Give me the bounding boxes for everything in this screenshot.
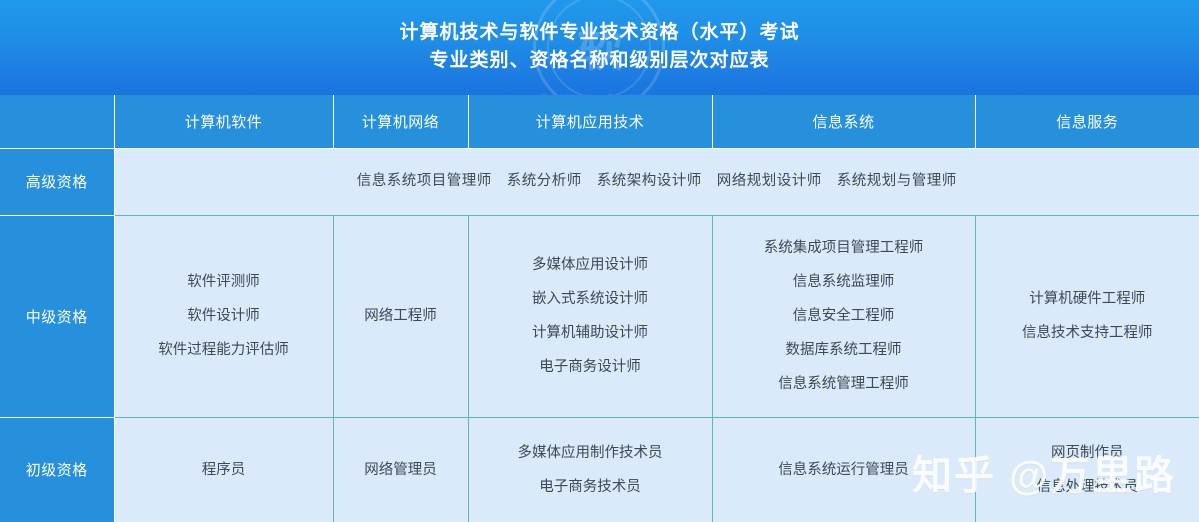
banner-title-group: 计算机技术与软件专业技术资格（水平）考试 专业类别、资格名称和级别层次对应表: [0, 0, 1199, 95]
cell-junior-computer-application: 多媒体应用制作技术员电子商务技术员: [468, 417, 712, 522]
qualification-item: 程序员: [115, 453, 333, 487]
cell-intermediate-computer-software: 软件评测师软件设计师软件过程能力评估师: [114, 215, 333, 417]
qualification-item: 信息技术支持工程师: [976, 316, 1199, 350]
column-header-information-service: 信息服务: [975, 95, 1199, 148]
table-row-intermediate: 中级资格 软件评测师软件设计师软件过程能力评估师 网络工程师 多媒体应用设计师嵌…: [0, 215, 1199, 417]
column-header-computer-network: 计算机网络: [333, 95, 468, 148]
cell-senior-merged: 信息系统项目管理师 系统分析师 系统架构设计师 网络规划设计师 系统规划与管理师: [114, 148, 1199, 215]
qualification-item: 信息系统运行管理员: [713, 453, 975, 487]
qualification-item: 嵌入式系统设计师: [469, 282, 712, 316]
qualification-item: 计算机辅助设计师: [469, 316, 712, 350]
page-subtitle: 专业类别、资格名称和级别层次对应表: [429, 51, 769, 72]
row-header-intermediate: 中级资格: [0, 215, 114, 417]
column-header-information-system: 信息系统: [712, 95, 975, 148]
qualification-item: 电子商务技术员: [469, 470, 712, 504]
row-header-senior: 高级资格: [0, 148, 114, 215]
qualification-item: 软件过程能力评估师: [115, 333, 333, 367]
row-header-junior: 初级资格: [0, 417, 114, 522]
qualification-item: 网络管理员: [334, 453, 468, 487]
cell-intermediate-computer-application: 多媒体应用设计师嵌入式系统设计师计算机辅助设计师电子商务设计师: [468, 215, 712, 417]
qualification-item: 软件设计师: [115, 299, 333, 333]
cell-junior-information-service: 网页制作员信息处理技术员: [975, 417, 1199, 522]
qualification-item: 网页制作员: [976, 436, 1199, 470]
qualification-item: 多媒体应用制作技术员: [469, 436, 712, 470]
page-root: 软 Qualification Certificate 计算机技术与软件专业技术…: [0, 0, 1199, 522]
qualification-item: 多媒体应用设计师: [469, 248, 712, 282]
table-row-senior: 高级资格 信息系统项目管理师 系统分析师 系统架构设计师 网络规划设计师 系统规…: [0, 148, 1199, 215]
table-row-junior: 初级资格 程序员 网络管理员 多媒体应用制作技术员电子商务技术员 信息系统运行管…: [0, 417, 1199, 522]
title-banner: 软 Qualification Certificate 计算机技术与软件专业技术…: [0, 0, 1199, 95]
column-header-computer-software: 计算机软件: [114, 95, 333, 148]
qualification-item: 数据库系统工程师: [713, 333, 975, 367]
qualification-item: 网络工程师: [334, 299, 468, 333]
qualification-item: 信息系统监理师: [713, 265, 975, 299]
cell-junior-computer-software: 程序员: [114, 417, 333, 522]
page-title: 计算机技术与软件专业技术资格（水平）考试: [399, 23, 799, 44]
qualification-item: 系统集成项目管理工程师: [713, 231, 975, 265]
cell-intermediate-information-system: 系统集成项目管理工程师信息系统监理师信息安全工程师数据库系统工程师信息系统管理工…: [712, 215, 975, 417]
column-header-computer-application: 计算机应用技术: [468, 95, 712, 148]
qualification-item: 信息处理技术员: [976, 470, 1199, 504]
qualification-item: 软件评测师: [115, 265, 333, 299]
table-corner-cell: [0, 95, 114, 148]
qualification-item: 计算机硬件工程师: [976, 282, 1199, 316]
qualification-item: 信息系统管理工程师: [713, 367, 975, 401]
table-header-row: 计算机软件 计算机网络 计算机应用技术 信息系统 信息服务: [0, 95, 1199, 148]
qualification-item: 电子商务设计师: [469, 350, 712, 384]
cell-junior-computer-network: 网络管理员: [333, 417, 468, 522]
cell-intermediate-computer-network: 网络工程师: [333, 215, 468, 417]
cell-junior-information-system: 信息系统运行管理员: [712, 417, 975, 522]
cell-intermediate-information-service: 计算机硬件工程师信息技术支持工程师: [975, 215, 1199, 417]
qualification-item: 信息安全工程师: [713, 299, 975, 333]
qualification-table: 计算机软件 计算机网络 计算机应用技术 信息系统 信息服务 高级资格 信息系统项…: [0, 95, 1199, 522]
